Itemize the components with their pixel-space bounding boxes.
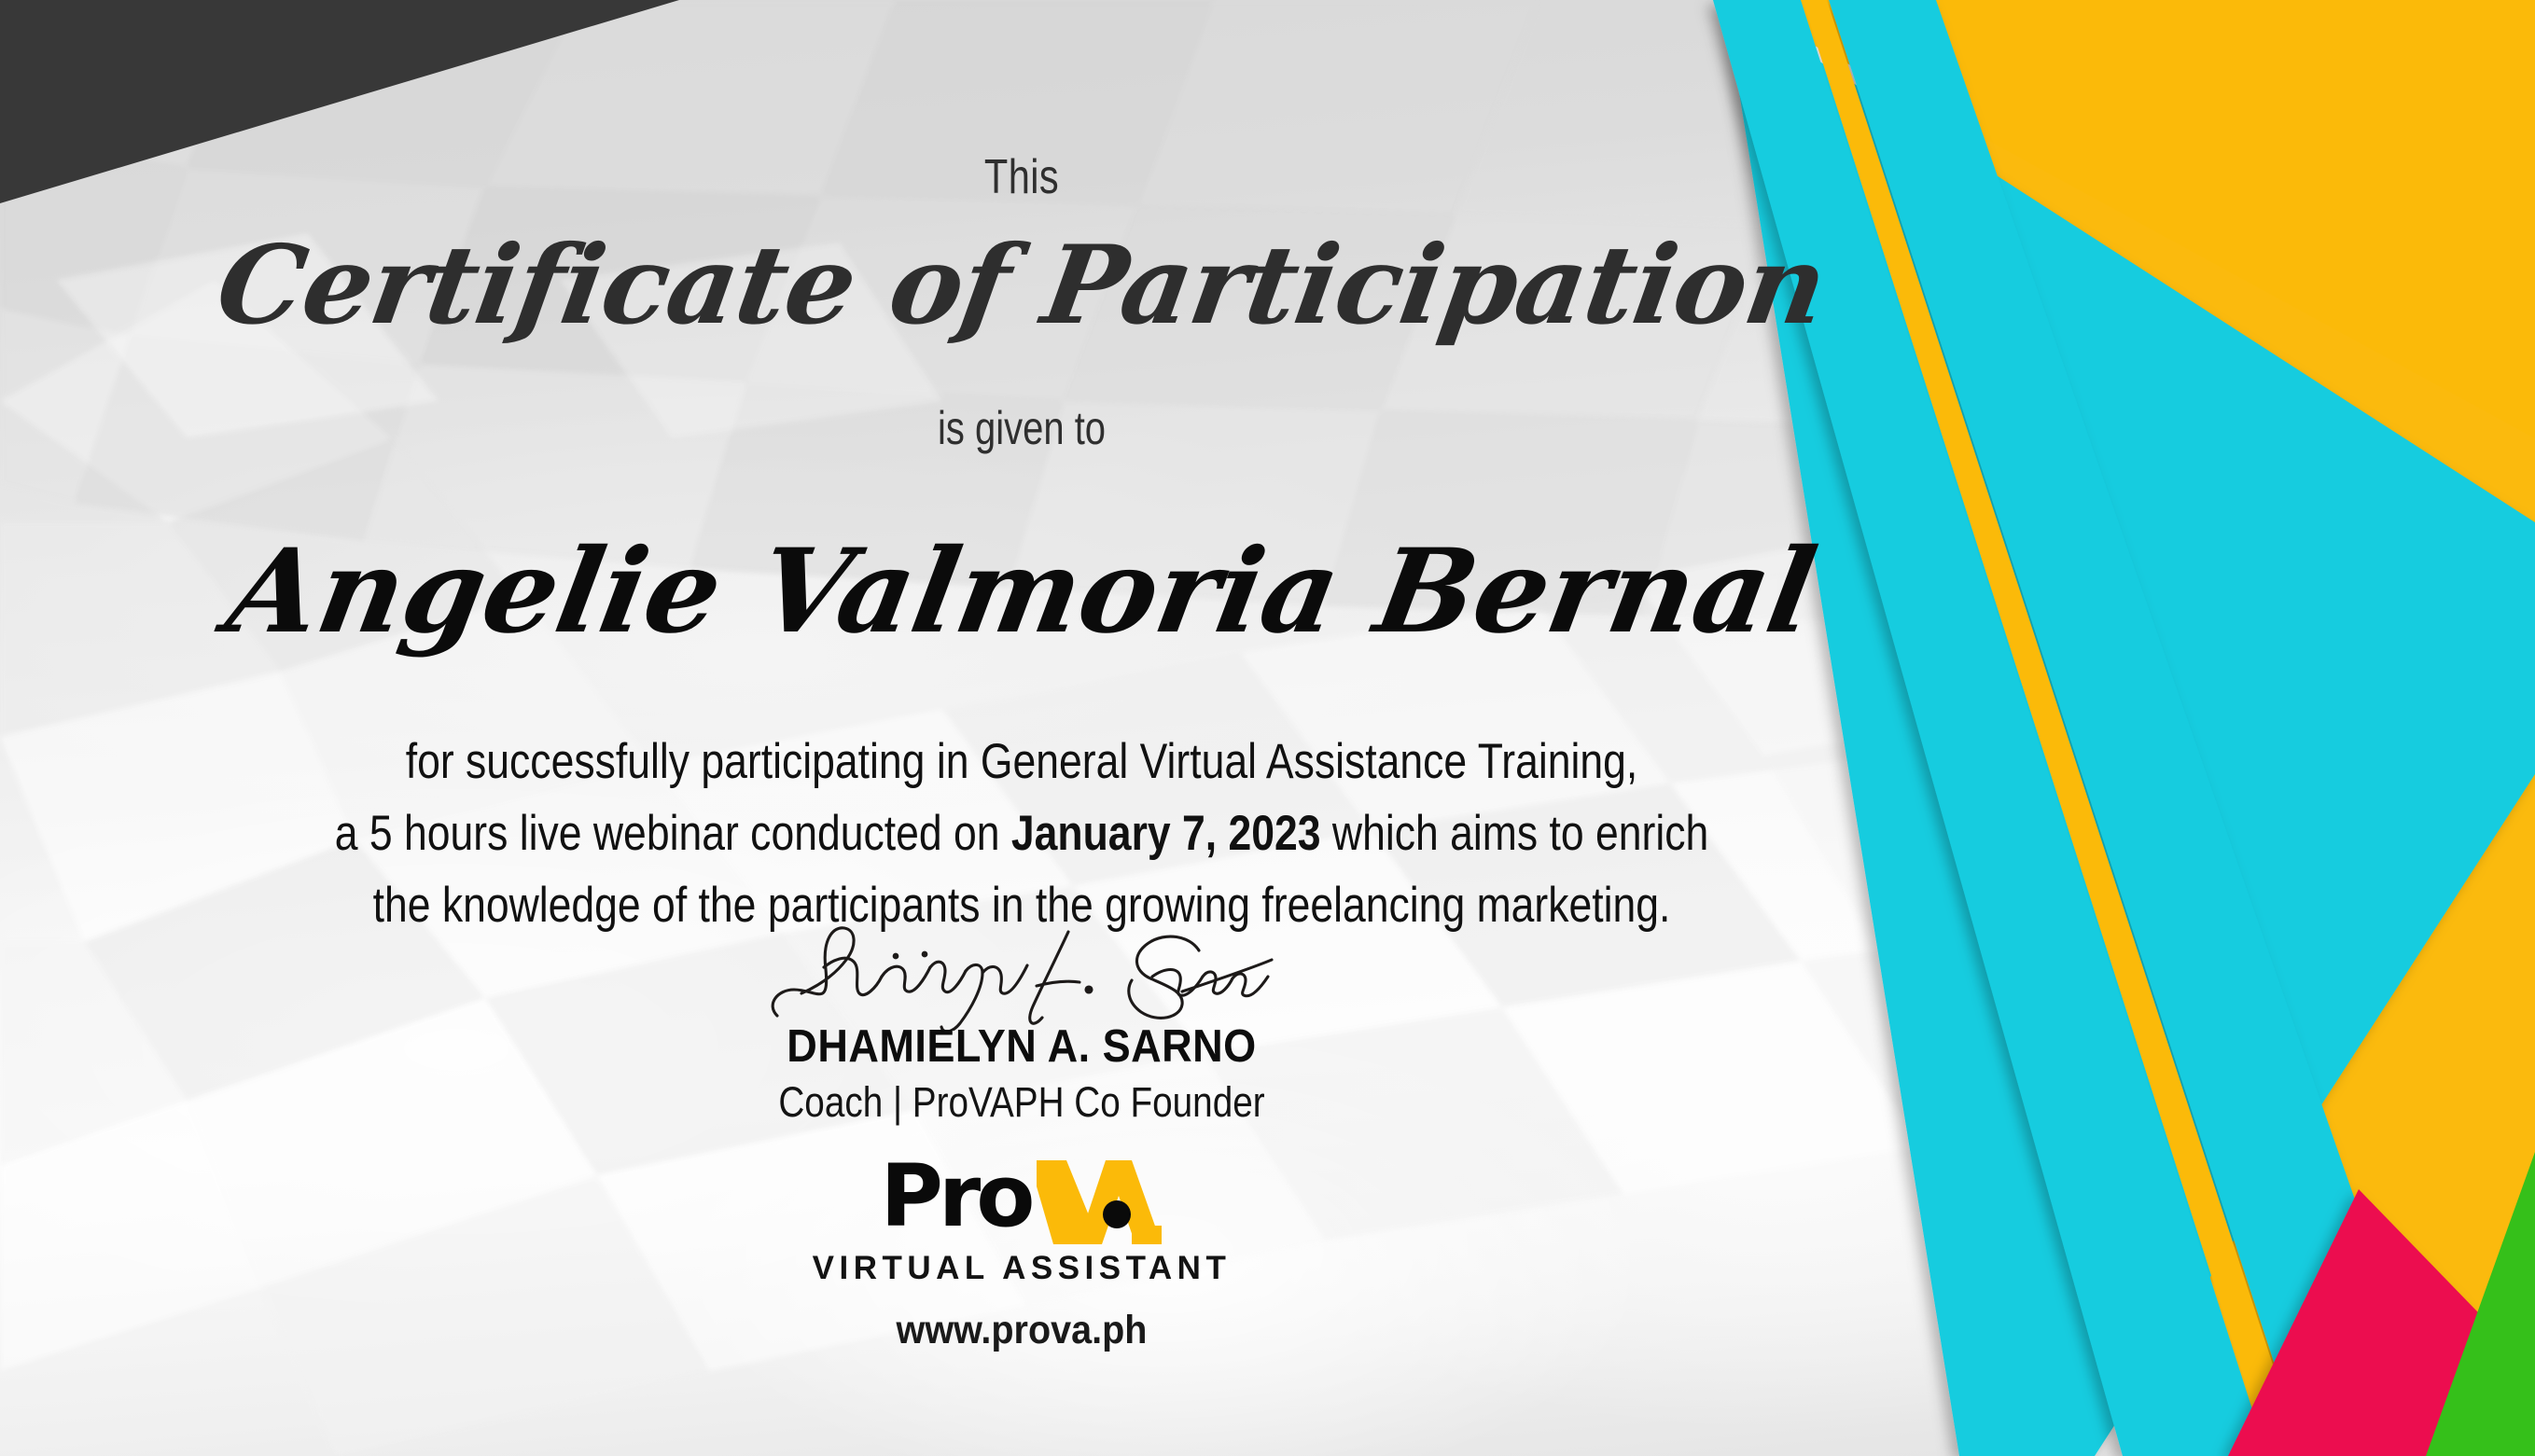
signature-icon bbox=[760, 919, 1283, 1031]
brand-logo: Pro VIRTUAL ASSISTANT www.prova.ph bbox=[0, 1158, 2043, 1353]
recipient-name: Angelie Valmoria Bernal bbox=[0, 524, 2055, 659]
website-url: www.prova.ph bbox=[82, 1308, 1962, 1353]
certificate-content: This Certificate of Participation is giv… bbox=[0, 0, 2043, 1456]
signature-block: DHAMIELYN A. SARNO Coach | ProVAPH Co Fo… bbox=[0, 919, 2043, 1127]
logo-wordmark-pro: Pro bbox=[880, 1158, 1030, 1236]
body-line-2: a 5 hours live webinar conducted on Janu… bbox=[163, 797, 1880, 869]
body-paragraph: for successfully participating in Genera… bbox=[0, 726, 2043, 941]
logo-mark: Pro bbox=[880, 1158, 1163, 1246]
given-to-line: is given to bbox=[204, 401, 1839, 455]
logo-va-icon bbox=[1035, 1157, 1163, 1246]
certificate-canvas: This Certificate of Participation is giv… bbox=[0, 0, 2535, 1456]
page-title: Certificate of Participation bbox=[0, 222, 2054, 349]
signatory-name: DHAMIELYN A. SARNO bbox=[82, 1020, 1962, 1073]
signatory-role: Coach | ProVAPH Co Founder bbox=[143, 1078, 1900, 1127]
logo-tagline: VIRTUAL ASSISTANT bbox=[0, 1250, 2043, 1287]
webinar-date: January 7, 2023 bbox=[1011, 806, 1321, 861]
body-line-2-before: a 5 hours live webinar conducted on bbox=[335, 806, 1011, 861]
body-line-2-after: which aims to enrich bbox=[1321, 806, 1709, 861]
body-line-1: for successfully participating in Genera… bbox=[163, 726, 1880, 797]
intro-line: This bbox=[204, 149, 1839, 205]
